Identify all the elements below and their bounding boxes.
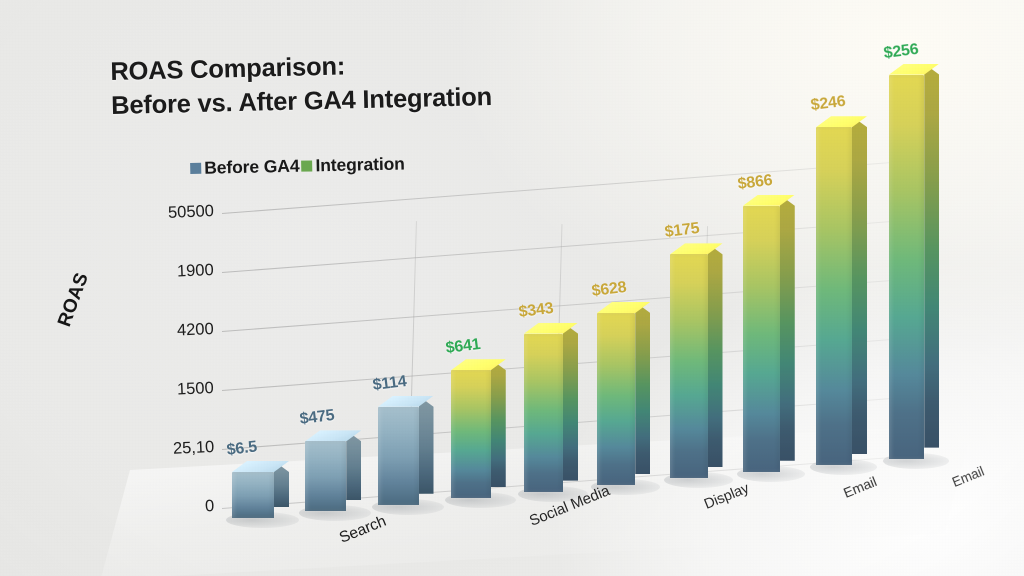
y-axis-tick-label: 1500 [177,379,214,400]
bar-front-face [816,127,852,465]
y-axis-tick-label: 25,10 [172,438,214,459]
bar-side-face [924,64,939,448]
x-axis-category-label: Email [841,473,879,501]
bar-side-face [419,396,434,494]
y-axis-tick-label: 0 [204,497,214,516]
bar-value-label: $475 [299,407,336,429]
y-axis-title: ROAS [54,270,94,330]
bar[interactable] [524,334,563,492]
bar-side-face [635,302,650,474]
bar[interactable] [232,472,274,518]
bar-side-face [852,116,867,454]
bar-side-face [780,195,795,461]
bar-side-face [563,323,578,481]
bar-front-face [232,472,274,518]
chart-title: ROAS Comparison: Before vs. After GA4 In… [110,47,492,124]
bar-value-label: $256 [883,40,920,62]
bar-value-label: $641 [445,336,482,358]
bar-front-face [597,313,635,485]
bar-front-face [378,407,419,505]
x-axis-category-label: Search [337,513,389,548]
bar-front-face [889,75,924,459]
bar[interactable] [378,407,419,505]
y-axis-tick-label: 4200 [177,320,214,341]
bar[interactable] [816,127,852,465]
bar[interactable] [743,206,780,472]
bar-side-face [708,243,723,467]
x-axis-category-label: Display [702,481,751,513]
bar-value-label: $343 [518,299,555,321]
bar-value-label: $628 [591,279,628,301]
bar-front-face [743,206,780,472]
bar-value-label: $246 [810,93,847,115]
legend-item-integration[interactable]: Integration [301,154,405,177]
legend-label-before-ga4: Before GA4 [204,156,300,179]
bar-value-label: $6.5 [226,438,258,460]
y-axis-tick-label: 50500 [168,202,215,223]
bar-value-label: $866 [737,172,774,194]
y-axis-tick-label: 1900 [177,261,214,282]
bar[interactable] [597,313,635,485]
x-axis-category-label: Email [950,464,986,490]
bar[interactable] [670,254,708,478]
bar-front-face [524,334,563,492]
legend-swatch-before-ga4 [190,163,201,174]
chart-canvas: 025,1015004200190050500 SearchSocial Med… [0,0,1024,576]
bar-side-face [491,359,506,487]
legend-swatch-integration [301,160,312,171]
legend-label-integration: Integration [315,154,405,177]
bar-value-label: $175 [664,220,701,242]
bar[interactable] [305,441,346,511]
bar[interactable] [889,75,924,459]
chart-legend: Before GA4 Integration [190,154,405,179]
bar-value-label: $114 [372,373,408,395]
legend-item-before-ga4[interactable]: Before GA4 [190,156,300,179]
bar-front-face [451,370,491,498]
gridline [222,220,905,273]
bar-front-face [670,254,708,478]
bar[interactable] [451,370,491,498]
bar-side-face [346,430,361,500]
bar-front-face [305,441,346,511]
